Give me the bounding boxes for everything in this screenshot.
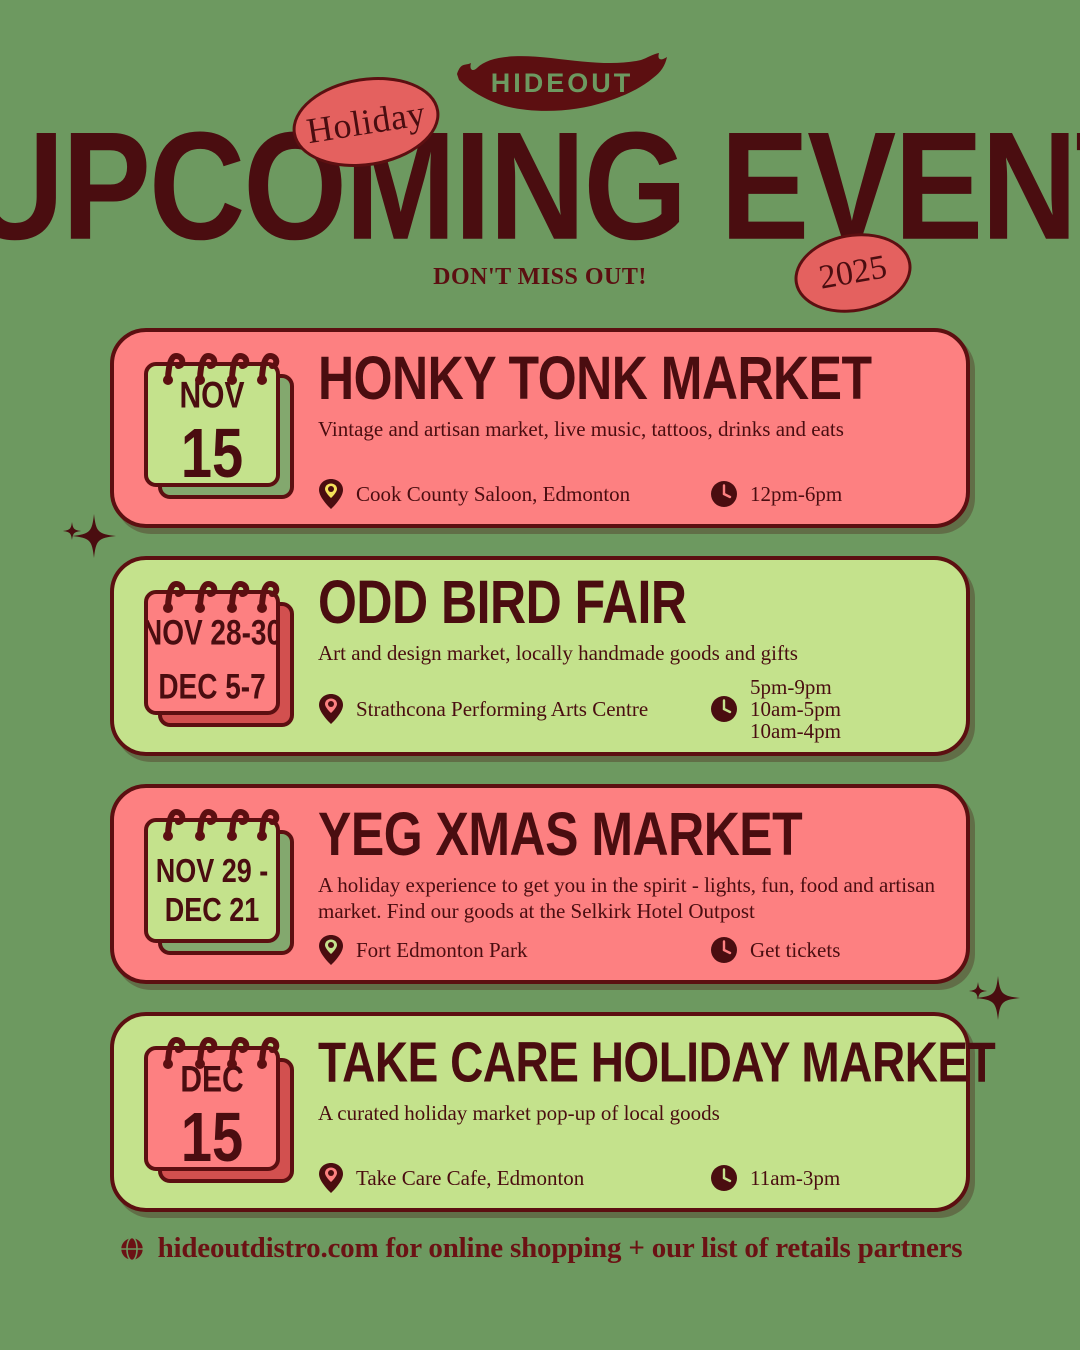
- clock-icon: [710, 936, 738, 964]
- event-description: A curated holiday market pop-up of local…: [318, 1100, 995, 1126]
- event-body: YEG XMAS MARKET A holiday experience to …: [318, 802, 940, 966]
- clock-icon: [710, 1164, 738, 1192]
- event-location-label: Take Care Cafe, Edmonton: [356, 1167, 584, 1189]
- event-time[interactable]: 11am-3pm: [710, 1164, 840, 1192]
- globe-icon: [118, 1235, 146, 1263]
- event-title: YEG XMAS MARKET: [318, 806, 940, 862]
- calendar-icon: DEC 15: [136, 1032, 304, 1192]
- calendar-day-line: DEC 21: [165, 893, 260, 927]
- sparkle-icon: [958, 962, 1028, 1037]
- event-time-label: 5pm-9pm 10am-5pm 10am-4pm: [750, 676, 841, 742]
- event-description: Vintage and artisan market, live music, …: [318, 416, 940, 442]
- event-body: ODD BIRD FAIR Art and design market, loc…: [318, 574, 940, 738]
- footer: hideoutdistro.com for online shopping + …: [0, 1232, 1080, 1265]
- event-meta-row: Cook County Saloon, Edmonton 12pm-6pm: [318, 468, 940, 510]
- event-location[interactable]: Take Care Cafe, Edmonton: [318, 1162, 710, 1194]
- location-pin-icon: [318, 693, 344, 725]
- calendar-day-line: 15: [181, 1102, 243, 1172]
- event-location-label: Strathcona Performing Arts Centre: [356, 698, 648, 720]
- event-location[interactable]: Fort Edmonton Park: [318, 934, 710, 966]
- event-description: Art and design market, locally handmade …: [318, 640, 940, 666]
- event-time[interactable]: 12pm-6pm: [710, 480, 842, 508]
- calendar-icon: NOV 29 - DEC 21: [136, 804, 304, 964]
- events-list: NOV 15 HONKY TONK MARKET Vintage and art…: [0, 328, 1080, 1240]
- event-card[interactable]: NOV 29 - DEC 21 YEG XMAS MARKET A holida…: [110, 784, 970, 984]
- event-location[interactable]: Cook County Saloon, Edmonton: [318, 478, 710, 510]
- event-meta-row: Strathcona Performing Arts Centre 5pm-9p…: [318, 666, 940, 742]
- event-time[interactable]: Get tickets: [710, 936, 840, 964]
- event-location[interactable]: Strathcona Performing Arts Centre: [318, 693, 710, 725]
- location-pin-icon: [318, 1162, 344, 1194]
- holiday-badge-label: Holiday: [304, 92, 429, 152]
- event-meta-row: Take Care Cafe, Edmonton 11am-3pm: [318, 1152, 995, 1194]
- location-pin-icon: [318, 478, 344, 510]
- calendar-icon: NOV 15: [136, 348, 304, 508]
- page-subtitle: DON'T MISS OUT!: [0, 264, 1080, 291]
- footer-text[interactable]: hideoutdistro.com for online shopping + …: [158, 1232, 963, 1265]
- sparkle-icon: [52, 500, 122, 575]
- calendar-page: NOV 15: [144, 362, 280, 487]
- calendar-month-line: DEC: [180, 1061, 243, 1099]
- hideout-logo-text: HIDEOUT: [491, 68, 634, 98]
- calendar-month-line: NOV 29 -: [156, 854, 269, 888]
- page-title: UPCOMING EVENTS: [0, 118, 1080, 255]
- event-location-label: Fort Edmonton Park: [356, 939, 528, 961]
- event-title: TAKE CARE HOLIDAY MARKET: [318, 1034, 995, 1090]
- event-card[interactable]: NOV 15 HONKY TONK MARKET Vintage and art…: [110, 328, 970, 528]
- event-title: HONKY TONK MARKET: [318, 350, 940, 406]
- calendar-day-line: DEC 5-7: [158, 669, 265, 704]
- calendar-page: DEC 15: [144, 1046, 280, 1171]
- clock-icon: [710, 695, 738, 723]
- event-location-label: Cook County Saloon, Edmonton: [356, 483, 630, 505]
- event-card[interactable]: DEC 15 TAKE CARE HOLIDAY MARKET A curate…: [110, 1012, 970, 1212]
- event-time[interactable]: 5pm-9pm 10am-5pm 10am-4pm: [710, 676, 841, 742]
- clock-icon: [710, 480, 738, 508]
- calendar-month-line: NOV: [179, 377, 244, 415]
- poster-header: HIDEOUT Holiday UPCOMING EVENTS 2025 DON…: [0, 0, 1080, 328]
- calendar-page: NOV 29 - DEC 21: [144, 818, 280, 943]
- location-pin-icon: [318, 934, 344, 966]
- calendar-page: NOV 28-30 DEC 5-7: [144, 590, 280, 715]
- calendar-month-line: NOV 28-30: [144, 615, 280, 650]
- event-description: A holiday experience to get you in the s…: [318, 872, 940, 924]
- calendar-day-line: 15: [181, 418, 243, 488]
- event-time-label: 12pm-6pm: [750, 483, 842, 505]
- event-meta-row: Fort Edmonton Park Get tickets: [318, 924, 940, 966]
- event-time-label: 11am-3pm: [750, 1167, 840, 1189]
- event-card[interactable]: NOV 28-30 DEC 5-7 ODD BIRD FAIR Art and …: [110, 556, 970, 756]
- year-badge-label: 2025: [816, 248, 890, 297]
- calendar-icon: NOV 28-30 DEC 5-7: [136, 576, 304, 736]
- event-body: HONKY TONK MARKET Vintage and artisan ma…: [318, 346, 940, 510]
- event-time-label: Get tickets: [750, 939, 840, 961]
- event-body: TAKE CARE HOLIDAY MARKET A curated holid…: [318, 1030, 995, 1194]
- event-title: ODD BIRD FAIR: [318, 574, 940, 630]
